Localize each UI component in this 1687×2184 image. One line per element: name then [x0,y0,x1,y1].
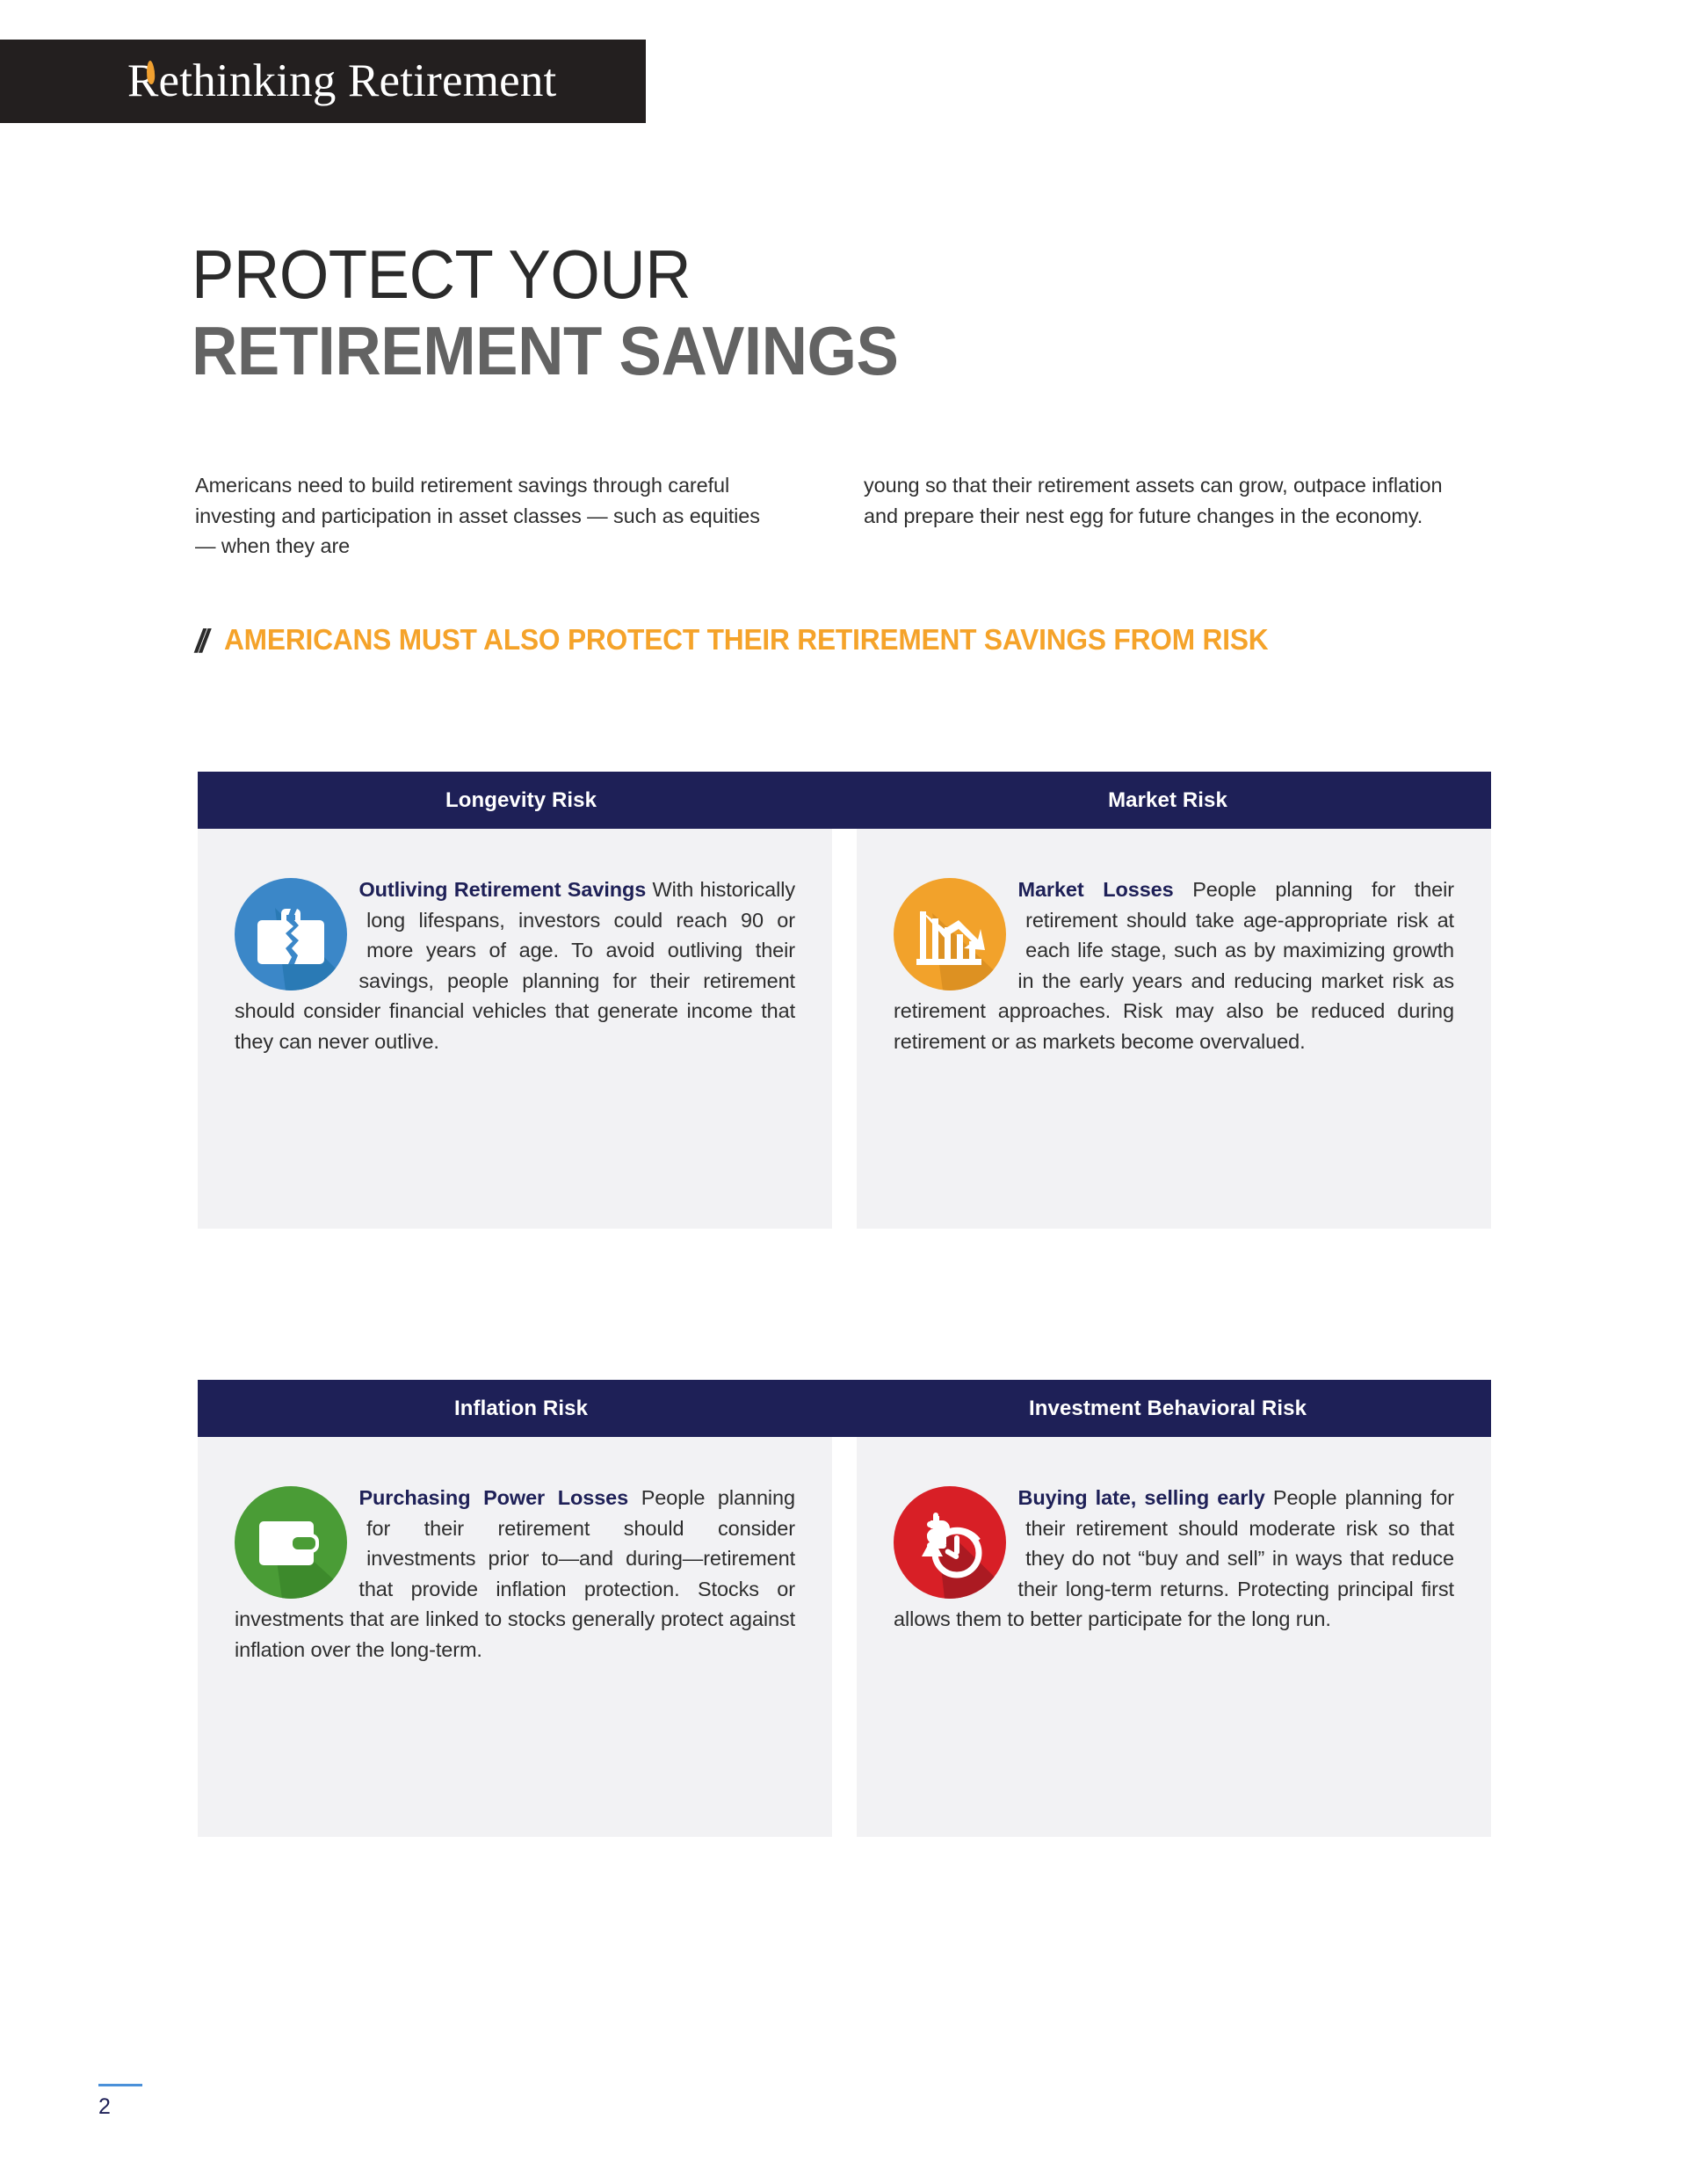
risk-card-longevity-title: Outliving Retirement Savings [358,878,646,901]
slash-marker-icon: // [195,622,205,661]
page-title: PROTECT YOUR RETIREMENT SAVINGS [192,242,1422,384]
risk-card-market: Market Losses People planning for their … [857,829,1491,1229]
intro-paragraph: Americans need to build retirement savin… [195,470,1443,562]
risk-header-market: Market Risk [844,772,1491,829]
masthead-bar: Rethinking Retirement [0,40,646,123]
risk-header-behavioral: Investment Behavioral Risk [844,1380,1491,1437]
risk-header-longevity: Longevity Risk [198,772,844,829]
risk-card-market-title: Market Losses [1017,878,1173,901]
risk-row-1: Longevity Risk Market Risk [198,772,1491,1229]
publication-logo: Rethinking Retirement [127,54,556,106]
broken-briefcase-icon [235,878,347,990]
risk-card-market-content: Market Losses People planning for their … [894,874,1454,1056]
risk-row-2: Inflation Risk Investment Behavioral Ris… [198,1380,1491,1837]
risk-header-bar-1: Longevity Risk Market Risk [198,772,1491,829]
footer-rule [98,2084,142,2086]
page-title-line-1: PROTECT YOUR [192,242,1336,308]
risk-card-behavioral-title: Buying late, selling early [1017,1486,1264,1509]
section-subheading-text: AMERICANS MUST ALSO PROTECT THEIR RETIRE… [224,622,1268,661]
wallet-icon [235,1486,347,1599]
declining-bar-chart-icon [894,878,1006,990]
intro-column-right: young so that their retirement assets ca… [864,470,1443,562]
dollar-clock-arrow-icon [894,1486,1006,1599]
risk-card-behavioral-content: Buying late, selling early People planni… [894,1483,1454,1635]
page-title-line-2: RETIREMENT SAVINGS [192,318,1336,384]
risk-card-behavioral: Buying late, selling early People planni… [857,1437,1491,1837]
risk-card-longevity: Outliving Retirement Savings With histor… [198,829,832,1229]
risk-card-row-2: Purchasing Power Losses People planning … [198,1437,1491,1837]
risk-card-inflation-content: Purchasing Power Losses People planning … [235,1483,795,1665]
risk-header-inflation: Inflation Risk [198,1380,844,1437]
page-number: 2 [98,2094,111,2120]
section-subheading: // AMERICANS MUST ALSO PROTECT THEIR RET… [195,622,1460,661]
intro-column-left: Americans need to build retirement savin… [195,470,774,562]
risk-card-inflation-title: Purchasing Power Losses [358,1486,628,1509]
risk-card-row-1: Outliving Retirement Savings With histor… [198,829,1491,1229]
risk-card-longevity-content: Outliving Retirement Savings With histor… [235,874,795,1056]
risk-card-inflation: Purchasing Power Losses People planning … [198,1437,832,1837]
risk-header-bar-2: Inflation Risk Investment Behavioral Ris… [198,1380,1491,1437]
